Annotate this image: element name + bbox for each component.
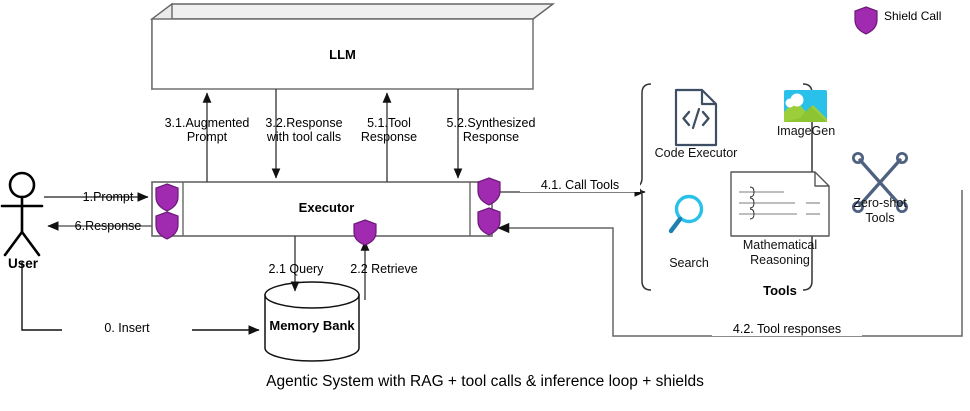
edge-label-query: 2.1 Query — [250, 262, 342, 276]
formula-document-icon — [731, 172, 829, 236]
tool-label-search: Search — [655, 256, 723, 271]
executor-label: Executor — [183, 200, 470, 215]
user-actor — [2, 173, 42, 255]
tool-label-image-gen: ImageGen — [767, 124, 845, 139]
shield-icon-memory-retrieve — [354, 220, 376, 245]
edge-insert — [22, 262, 259, 330]
memory-bank-label: Memory Bank — [265, 318, 359, 333]
shield-icon-legend — [855, 7, 877, 34]
tools-group-label: Tools — [740, 283, 820, 298]
edge-label-response: 6.Response — [60, 219, 156, 233]
user-label: User — [0, 256, 46, 271]
tool-label-mathematical-reasoning: Mathematical Reasoning — [730, 238, 830, 268]
tool-label-zero-shot-tools: Zero-shot Tools — [838, 196, 922, 226]
code-document-icon — [676, 90, 716, 145]
edge-label-synthesized-response: 5.2.Synthesized Response — [424, 116, 558, 144]
edge-label-retrieve: 2.2 Retrieve — [334, 262, 434, 276]
legend-label-shield-call: Shield Call — [884, 9, 941, 23]
edge-label-tool-responses: 4.2. Tool responses — [712, 322, 862, 336]
diagram-canvas: LLM Executor Memory Bank User 1.Prompt 6… — [0, 0, 970, 411]
tool-label-code-executor: Code Executor — [646, 146, 746, 161]
image-picture-icon — [784, 90, 827, 122]
edge-label-call-tools: 4.1. Call Tools — [520, 178, 640, 192]
edge-label-insert: 0. Insert — [62, 321, 192, 335]
llm-label: LLM — [152, 47, 533, 62]
magnifier-icon — [671, 197, 702, 232]
diagram-caption: Agentic System with RAG + tool calls & i… — [0, 373, 970, 391]
edge-label-prompt: 1.Prompt — [62, 190, 154, 204]
